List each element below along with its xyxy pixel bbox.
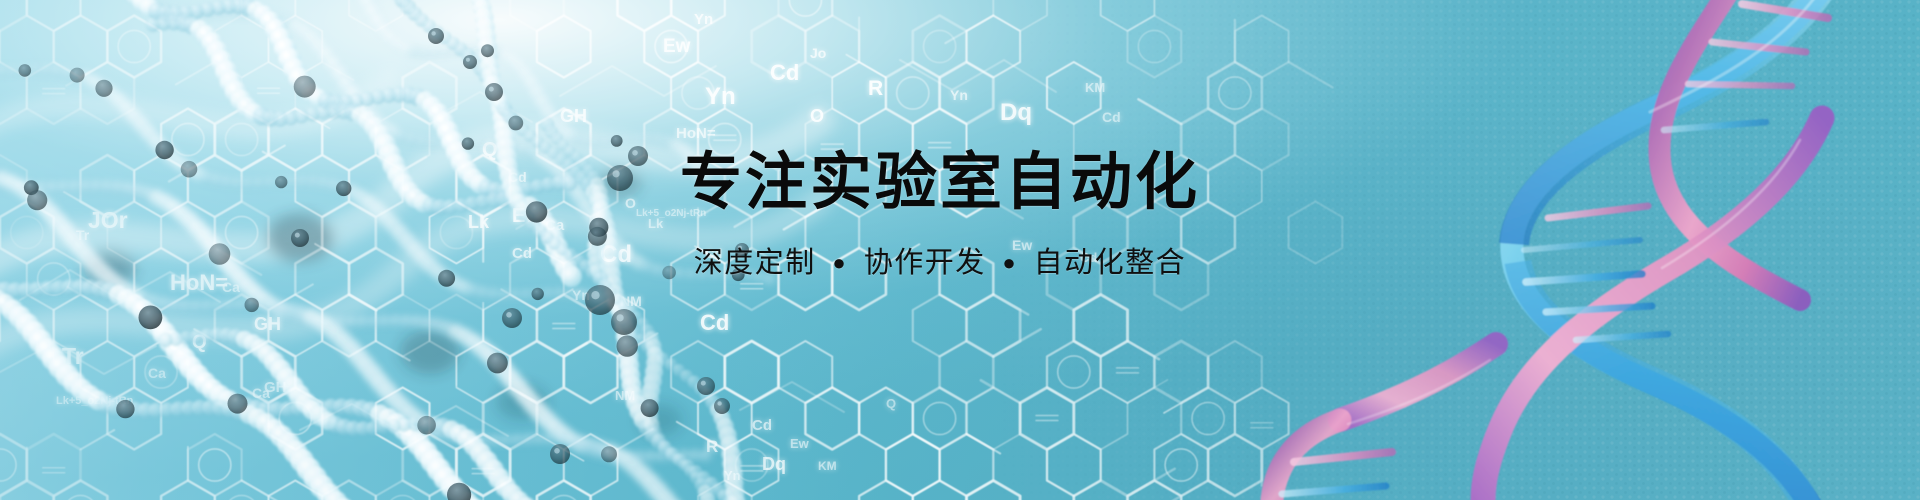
page-subtitle: 深度定制 ● 协作开发 ● 自动化整合 [560, 239, 1320, 281]
page-title: 专注实验室自动化 [560, 150, 1320, 217]
hero-text-block: 专注实验室自动化 深度定制 ● 协作开发 ● 自动化整合 [560, 150, 1320, 281]
bullet-separator-icon: ● [828, 250, 851, 275]
ribbon-helix-group [1272, 0, 1835, 500]
hero-banner: YnCdJoHoN=YnEwRYnDqKMCdOGHCdQEwLkCdCaCdC… [0, 0, 1920, 500]
subtitle-segment-3: 自动化整合 [1031, 247, 1190, 279]
subtitle-segment-1: 深度定制 [691, 247, 819, 279]
bullet-separator-icon: ● [998, 250, 1021, 275]
subtitle-segment-2: 协作开发 [861, 247, 989, 279]
